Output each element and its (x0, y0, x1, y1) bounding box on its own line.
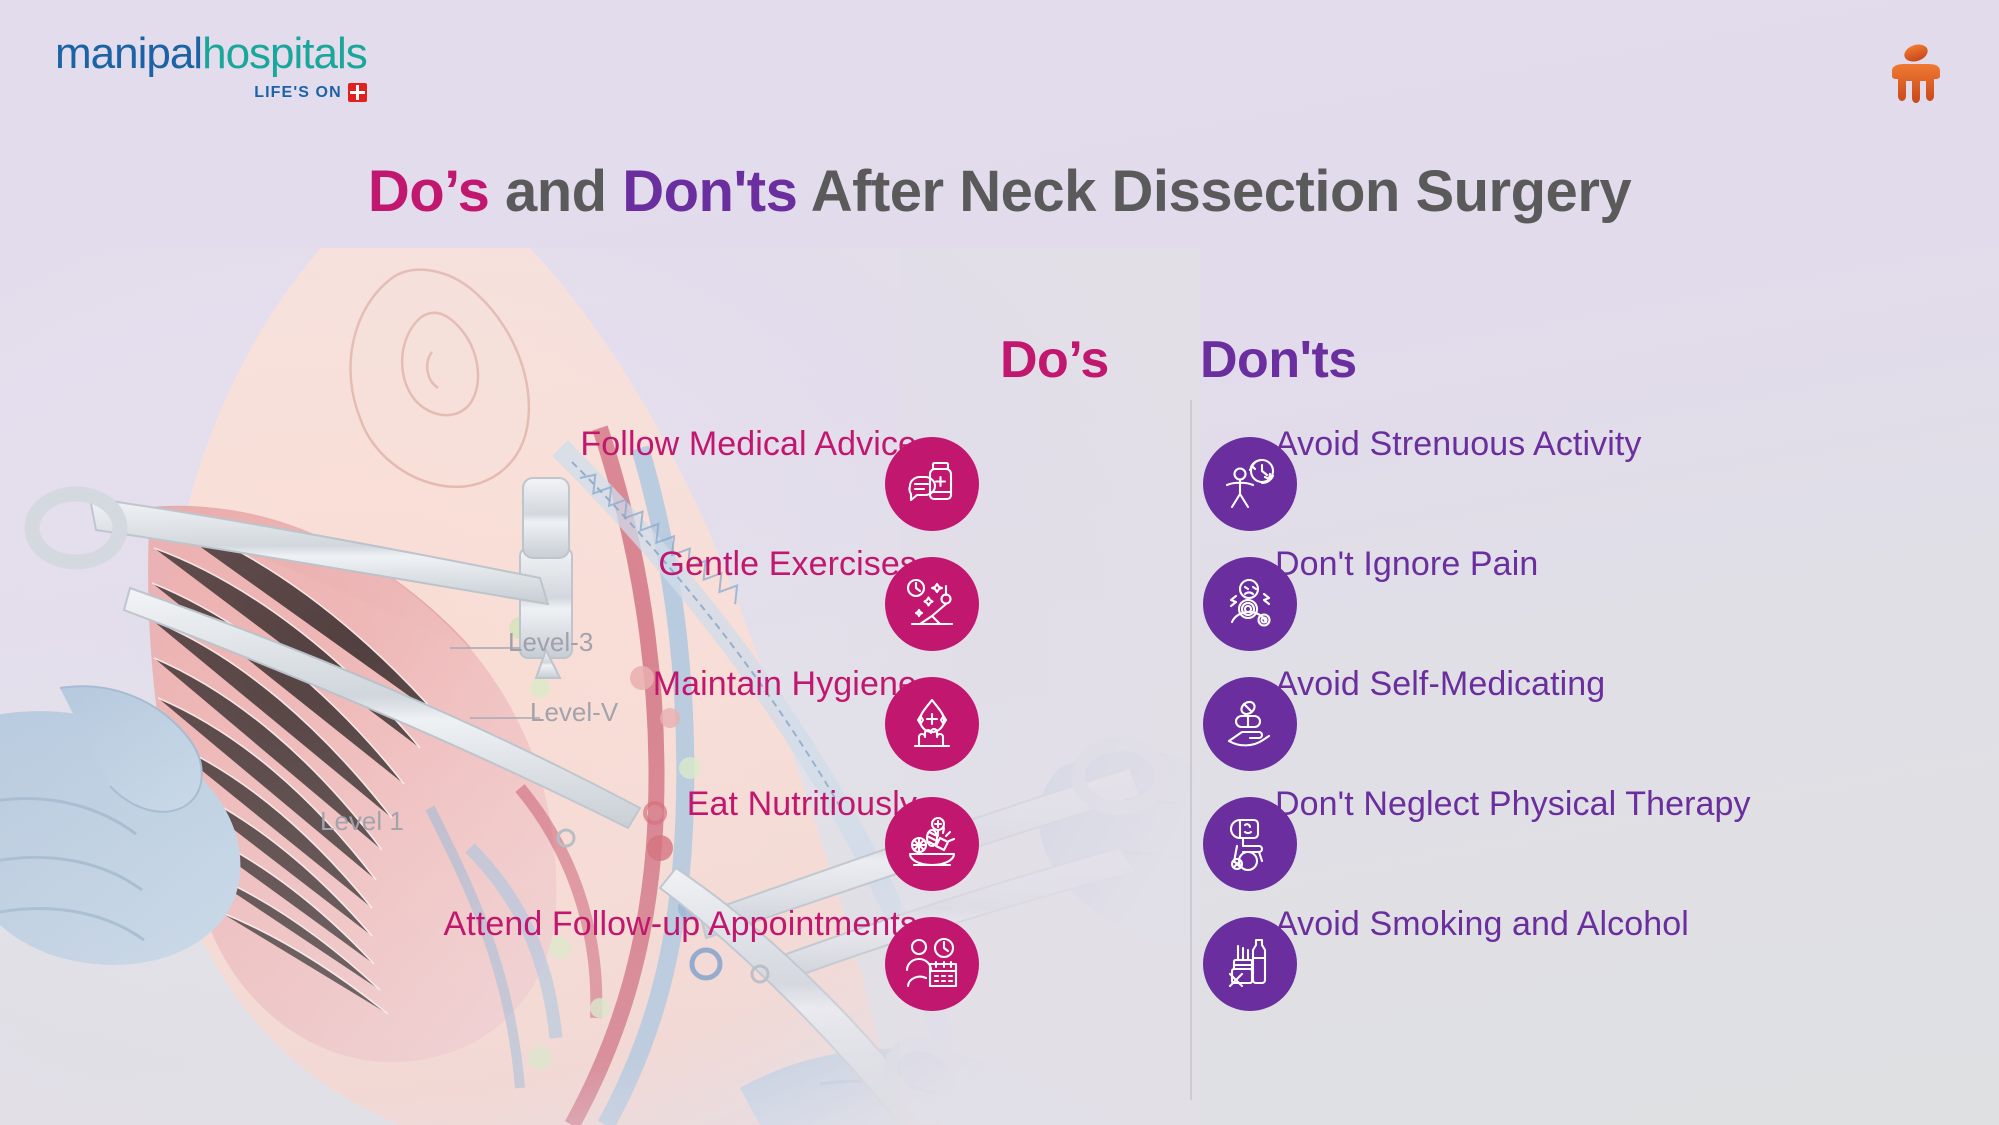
wheelchair-therapy-icon (1203, 797, 1297, 891)
dos-item-label: Eat Nutritiously (687, 785, 917, 824)
donts-item-label: Avoid Smoking and Alcohol (1275, 905, 1689, 944)
title-part-rest: After Neck Dissection Surgery (797, 159, 1631, 224)
manipal-hospitals-logo[interactable]: manipalhospitals LIFE'S ON (55, 32, 367, 102)
stretching-clock-icon (885, 557, 979, 651)
item-row: Maintain Hygiene Avoid Self-Medicating (0, 665, 1999, 785)
dos-item-5[interactable]: Attend Follow-up Appointments (443, 905, 917, 944)
hand-wash-droplet-icon (885, 677, 979, 771)
pain-face-icon (1203, 557, 1297, 651)
cigarette-bottle-cross-icon (1203, 917, 1297, 1011)
dos-item-label: Maintain Hygiene (653, 665, 917, 704)
items-grid: Follow Medical Advice Avoid Strenuous Ac… (0, 425, 1999, 1025)
dos-item-label: Follow Medical Advice (580, 425, 917, 464)
strenuous-exercise-clock-icon (1203, 437, 1297, 531)
donts-item-1[interactable]: Avoid Strenuous Activity (1275, 425, 1642, 464)
donts-item-2[interactable]: Don't Ignore Pain (1275, 545, 1538, 584)
donts-item-label: Don't Neglect Physical Therapy (1275, 785, 1751, 824)
calendar-appointment-icon (885, 917, 979, 1011)
dos-item-label: Attend Follow-up Appointments (443, 905, 917, 944)
dos-item-2[interactable]: Gentle Exercises (658, 545, 917, 584)
logo-wordmark: manipalhospitals (55, 32, 367, 76)
infographic-poster: Level-3 Level-V Level 1 manipalhospitals… (0, 0, 1999, 1125)
dos-item-4[interactable]: Eat Nutritiously (687, 785, 917, 824)
title-part-dos: Do’s (368, 159, 490, 224)
dos-item-3[interactable]: Maintain Hygiene (653, 665, 917, 704)
page-title: Do’s and Don'ts After Neck Dissection Su… (0, 158, 1999, 225)
item-row: Follow Medical Advice Avoid Strenuous Ac… (0, 425, 1999, 545)
item-row: Gentle Exercises Don't Ignore Pain (0, 545, 1999, 665)
column-header-donts: Don'ts (1200, 330, 1357, 390)
donts-item-label: Avoid Self-Medicating (1275, 665, 1605, 704)
donts-item-label: Avoid Strenuous Activity (1275, 425, 1642, 464)
donts-item-4[interactable]: Don't Neglect Physical Therapy (1275, 785, 1751, 824)
title-part-and: and (489, 159, 622, 224)
logo-word-hospitals: hospitals (202, 29, 367, 78)
item-row: Attend Follow-up Appointments Avoid Smok… (0, 905, 1999, 1025)
column-header-dos: Do’s (1000, 330, 1109, 390)
medicine-bottle-chat-icon (885, 437, 979, 531)
healthy-food-bowl-icon (885, 797, 979, 891)
dos-item-label: Gentle Exercises (658, 545, 917, 584)
logo-tagline: LIFE'S ON (254, 84, 342, 102)
item-row: Eat Nutritiously Don't Ne (0, 785, 1999, 905)
manipal-people-mark-icon (1881, 38, 1951, 108)
red-cross-icon (348, 83, 367, 102)
pills-in-hand-icon (1203, 677, 1297, 771)
donts-item-3[interactable]: Avoid Self-Medicating (1275, 665, 1605, 704)
donts-item-5[interactable]: Avoid Smoking and Alcohol (1275, 905, 1689, 944)
dos-item-1[interactable]: Follow Medical Advice (580, 425, 917, 464)
logo-word-manipal: manipal (55, 29, 202, 78)
donts-item-label: Don't Ignore Pain (1275, 545, 1538, 584)
title-part-donts: Don'ts (622, 159, 797, 224)
logo-tagline-row: LIFE'S ON (55, 83, 367, 102)
